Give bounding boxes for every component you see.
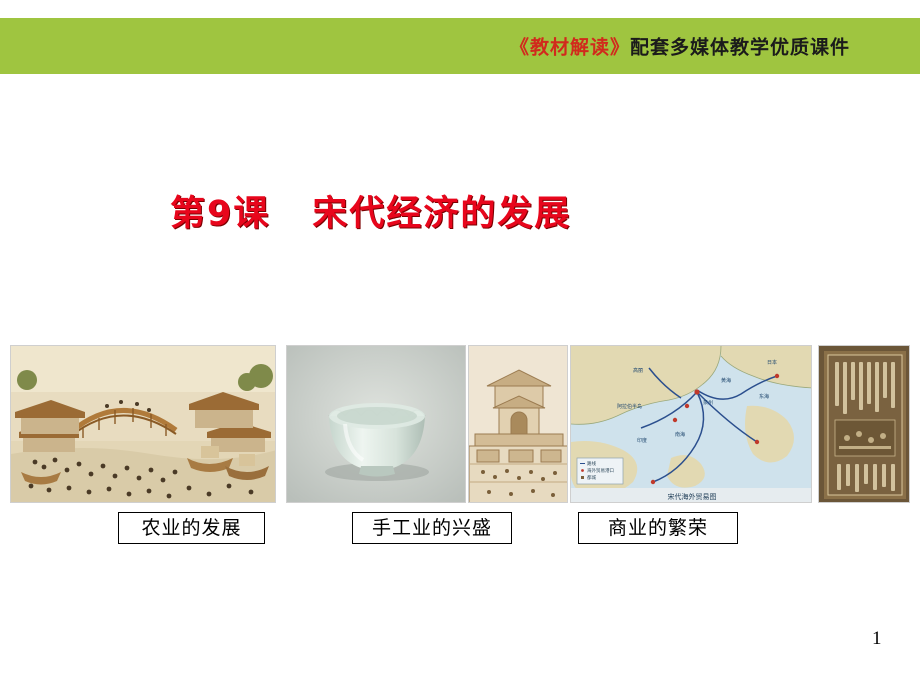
picture-porcelain-bowl[interactable]	[286, 345, 466, 503]
svg-text:东海: 东海	[759, 393, 769, 400]
street-scene-illustration	[469, 346, 568, 503]
agriculture-scroll-illustration	[11, 346, 276, 503]
svg-text:泉州: 泉州	[703, 399, 713, 406]
caption-handicraft[interactable]: 手工业的兴盛	[352, 512, 512, 544]
caption-commerce[interactable]: 商业的繁荣	[578, 512, 738, 544]
svg-text:海外贸易港口: 海外贸易港口	[587, 467, 614, 474]
banner-text: 《教材解读》配套多媒体教学优质课件	[510, 33, 850, 60]
svg-text:高丽: 高丽	[633, 367, 643, 374]
picture-maritime-trade-map[interactable]: 高丽 日本 黄海 东海 泉州 南海 阿拉伯半岛 印度 路线 海外贸易港口 都城	[570, 345, 812, 503]
picture-agriculture[interactable]	[10, 345, 276, 503]
svg-text:日本: 日本	[767, 359, 777, 366]
caption-agriculture[interactable]: 农业的发展	[118, 512, 265, 544]
picture-street-scene[interactable]	[468, 345, 568, 503]
maritime-trade-map-illustration: 高丽 日本 黄海 东海 泉州 南海 阿拉伯半岛 印度 路线 海外贸易港口 都城	[571, 346, 812, 503]
banner-tagline: 配套多媒体教学优质课件	[630, 37, 850, 59]
top-banner: 《教材解读》配套多媒体教学优质课件	[0, 18, 920, 74]
title-name: 宋代经济的发展	[312, 194, 571, 234]
svg-text:宋代海外贸易图: 宋代海外贸易图	[668, 492, 717, 501]
slide: 《教材解读》配套多媒体教学优质课件 第9课宋代经济的发展	[0, 0, 920, 690]
svg-text:阿拉伯半岛: 阿拉伯半岛	[617, 403, 642, 410]
svg-text:印度: 印度	[637, 437, 647, 444]
page-title: 第9课宋代经济的发展	[170, 185, 790, 236]
page-number: 1	[872, 628, 882, 650]
celadon-bowl-illustration	[287, 346, 466, 503]
image-strip: 高丽 日本 黄海 东海 泉州 南海 阿拉伯半岛 印度 路线 海外贸易港口 都城	[10, 345, 910, 503]
svg-text:都城: 都城	[587, 474, 596, 481]
banner-brand: 《教材解读》	[510, 37, 630, 59]
title-lesson: 第9课	[170, 194, 270, 234]
jiaozi-rubbing-illustration	[819, 346, 910, 503]
svg-text:南海: 南海	[675, 431, 685, 438]
svg-text:黄海: 黄海	[721, 377, 731, 384]
svg-text:路线: 路线	[587, 460, 596, 467]
picture-jiaozi-banknote[interactable]	[818, 345, 910, 503]
